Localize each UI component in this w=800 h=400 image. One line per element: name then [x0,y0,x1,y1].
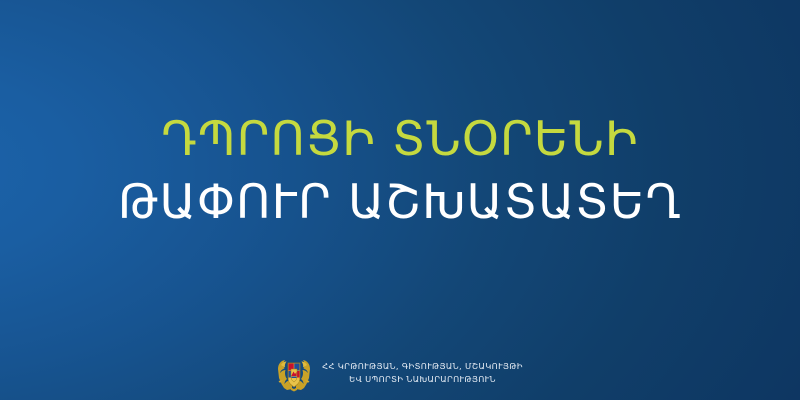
headline-block: ԴՊՐՈՑԻ ՏՆՕՐԵՆԻ ԹԱՓՈՒՐ ԱՇԽԱՏԱՏԵՂ [0,116,800,226]
ministry-name-line-2: ԵՎ ՍՊՈՐՏԻ ՆԱԽԱՐԱՐՈՒԹՅՈՒՆ [349,373,496,386]
ministry-name-line-1: ՀՀ ԿՐԹՈՒԹՅԱՆ, ԳԻՏՈՒԹՅԱՆ, ՄՇԱԿՈՒՅԹԻ [322,360,523,373]
ministry-name: ՀՀ ԿՐԹՈՒԹՅԱՆ, ԳԻՏՈՒԹՅԱՆ, ՄՇԱԿՈՒՅԹԻ ԵՎ ՍՊ… [322,360,523,386]
armenia-coat-of-arms-emblem [277,354,311,392]
ministry-lockup: ՀՀ ԿՐԹՈՒԹՅԱՆ, ԳԻՏՈՒԹՅԱՆ, ՄՇԱԿՈՒՅԹԻ ԵՎ ՍՊ… [0,354,800,392]
headline-line-primary: ԴՊՐՈՑԻ ՏՆՕՐԵՆԻ [0,116,800,163]
announcement-banner: ԴՊՐՈՑԻ ՏՆՕՐԵՆԻ ԹԱՓՈՒՐ ԱՇԽԱՏԱՏԵՂ [0,0,800,400]
headline-line-secondary: ԹԱՓՈՒՐ ԱՇԽԱՏԱՏԵՂ [0,179,800,226]
